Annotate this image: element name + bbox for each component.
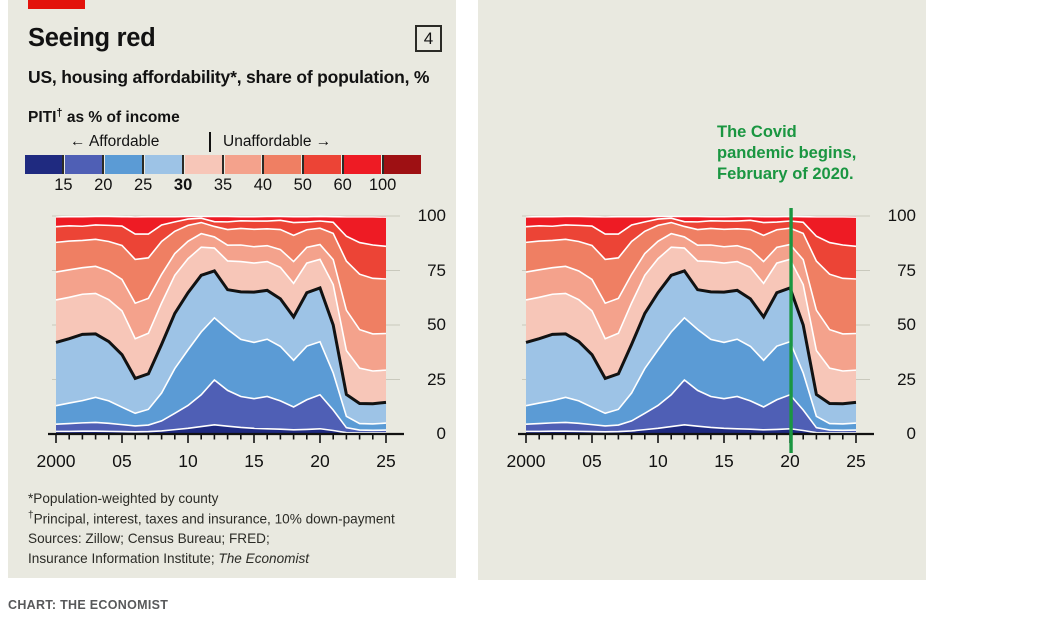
- legend-swatch: [105, 155, 142, 174]
- legend-divider: [209, 132, 211, 152]
- legend-separator: [301, 155, 304, 174]
- legend-tick-labels: 1520253035405060100: [25, 176, 425, 198]
- band-separator: [526, 216, 856, 217]
- x-axis-label: 20: [780, 451, 799, 472]
- footnote-piti-text: Principal, interest, taxes and insurance…: [34, 512, 395, 527]
- legend-tick-100: 100: [369, 176, 397, 195]
- covid-annotation-line1: The Covid: [717, 122, 927, 143]
- economist-red-tab: [28, 0, 85, 9]
- legend-tick-20: 20: [94, 176, 112, 195]
- x-axis-label: 10: [648, 451, 667, 472]
- band-separator: [56, 216, 386, 217]
- y-axis-label: 75: [404, 261, 446, 281]
- x-axis-label: 05: [112, 451, 131, 472]
- legend-unaffordable-label: Unaffordable →: [223, 133, 331, 151]
- chart-number-value: 4: [424, 29, 433, 49]
- legend-swatch: [384, 155, 421, 174]
- x-axis-label: 2000: [507, 451, 546, 472]
- legend-swatch: [65, 155, 102, 174]
- legend-swatch: [145, 155, 182, 174]
- covid-annotation: The Covid pandemic begins, February of 2…: [717, 122, 927, 185]
- footnote-piti: †Principal, interest, taxes and insuranc…: [28, 509, 395, 530]
- stacked-area-svg: [28, 208, 428, 493]
- legend-separator: [381, 155, 384, 174]
- footnote-sources-2: Insurance Information Institute; The Eco…: [28, 549, 395, 569]
- y-axis-label: 50: [404, 315, 446, 335]
- legend-separator: [341, 155, 344, 174]
- x-axis-label: 25: [846, 451, 865, 472]
- legend-color-strip: [25, 155, 421, 174]
- y-axis-label: 25: [874, 370, 916, 390]
- chart-credit: CHART: THE ECONOMIST: [8, 598, 168, 612]
- legend-swatch: [185, 155, 222, 174]
- footnote-sources-italic: The Economist: [218, 551, 309, 566]
- legend-separator: [62, 155, 65, 174]
- x-axis-label: 15: [244, 451, 263, 472]
- y-axis-label: 100: [874, 206, 916, 226]
- chart-number-badge: 4: [415, 25, 442, 52]
- y-axis-label: 0: [874, 424, 916, 444]
- legend-separator: [222, 155, 225, 174]
- legend-swatch: [25, 155, 62, 174]
- legend-heading: PITI† as % of income: [28, 107, 180, 127]
- covid-annotation-line3: February of 2020.: [717, 164, 927, 185]
- footnotes: *Population-weighted by county †Principa…: [28, 489, 395, 569]
- legend-swatch: [304, 155, 341, 174]
- y-axis-label: 75: [874, 261, 916, 281]
- legend-tick-40: 40: [254, 176, 272, 195]
- x-axis-label: 2000: [37, 451, 76, 472]
- footnote-sources-plain: Insurance Information Institute;: [28, 551, 218, 566]
- covid-annotation-line2: pandemic begins,: [717, 143, 927, 164]
- legend-separator: [102, 155, 105, 174]
- chart-panel-left: 025507510020000510152025: [28, 208, 428, 498]
- legend-affordable-label: ← Affordable: [70, 133, 159, 151]
- legend-tick-15: 15: [54, 176, 72, 195]
- legend-swatch: [344, 155, 381, 174]
- legend-tick-35: 35: [214, 176, 232, 195]
- page-title: Seeing red: [28, 24, 155, 53]
- legend-tick-60: 60: [334, 176, 352, 195]
- legend-heading-piti: PITI: [28, 109, 56, 126]
- legend-separator: [261, 155, 264, 174]
- legend-separator: [142, 155, 145, 174]
- chart-panel-right: 025507510020000510152025: [498, 208, 898, 498]
- x-axis-label: 25: [376, 451, 395, 472]
- x-axis-label: 20: [310, 451, 329, 472]
- legend-tick-50: 50: [294, 176, 312, 195]
- legend-heading-rest: as % of income: [63, 109, 180, 126]
- chart-subtitle: US, housing affordability*, share of pop…: [28, 67, 429, 88]
- y-axis-label: 0: [404, 424, 446, 444]
- x-axis-label: 10: [178, 451, 197, 472]
- y-axis-label: 100: [404, 206, 446, 226]
- legend-swatch: [264, 155, 301, 174]
- stacked-area-svg: [498, 208, 898, 493]
- footnote-sources-1: Sources: Zillow; Census Bureau; FRED;: [28, 529, 395, 549]
- y-axis-label: 50: [874, 315, 916, 335]
- x-axis-label: 15: [714, 451, 733, 472]
- x-axis-label: 05: [582, 451, 601, 472]
- legend-swatch: [225, 155, 262, 174]
- y-axis-label: 25: [404, 370, 446, 390]
- legend-tick-25: 25: [134, 176, 152, 195]
- legend-separator: [182, 155, 185, 174]
- legend-tick-30: 30: [174, 176, 192, 195]
- legend-direction-row: ← Affordable Unaffordable →: [28, 133, 428, 153]
- footnote-population: *Population-weighted by county: [28, 489, 395, 509]
